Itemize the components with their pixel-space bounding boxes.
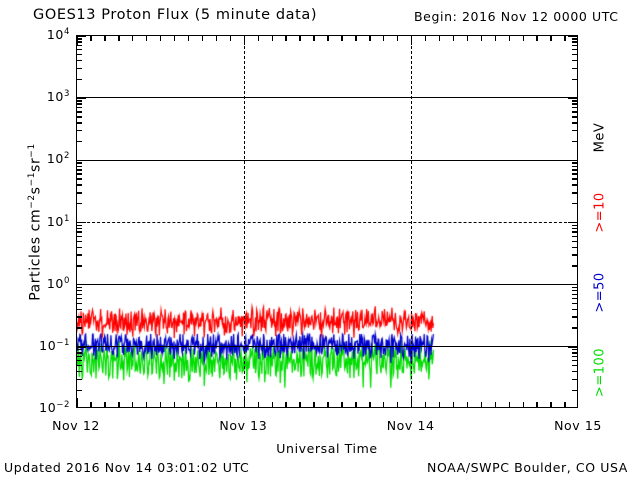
y-tick [572,303,577,304]
y-tick [77,379,82,380]
y-tick [572,309,577,310]
y-tick [572,166,577,167]
y-tick-label-1e-1: 10−1 [0,338,70,353]
x-tick-major [77,398,78,407]
y-tick [572,247,577,248]
x-tick-minor [341,36,342,41]
y-tick [572,141,577,142]
y-tick [572,298,577,299]
x-tick-minor [285,402,286,407]
y-tick [572,294,577,295]
x-tick-minor [397,36,398,41]
y-tick [572,130,577,131]
x-tick-minor [509,36,510,41]
x-tick-minor [216,402,217,407]
y-tick [77,41,82,42]
x-tick-minor [536,36,537,41]
y-tick-label-1e4: 104 [0,27,70,42]
x-tick-label-2: Nov 14 [366,418,456,433]
y-tick [77,349,82,350]
y-tick [77,287,82,288]
y-tick [77,356,82,357]
x-tick-minor [272,402,273,407]
y-tick [77,298,82,299]
y-tick [77,365,82,366]
x-tick-minor [104,402,105,407]
updated-timestamp: Updated 2016 Nov 14 03:01:02 UTC [4,460,249,475]
x-tick-minor [550,36,551,41]
x-tick-minor [467,402,468,407]
y-tick [77,122,82,123]
y-tick [77,294,82,295]
y-tick [572,360,577,361]
x-tick-minor [383,36,384,41]
y-tick [572,41,577,42]
x-tick-minor [550,402,551,407]
x-tick-minor [90,402,91,407]
y-tick-label-1e2: 102 [0,151,70,166]
y-tick [77,103,82,104]
y-tick [572,236,577,237]
page-title: GOES13 Proton Flux (5 minute data) [33,7,317,23]
y-tick [77,236,82,237]
x-tick-minor [313,402,314,407]
x-tick-minor [188,36,189,41]
y-tick [77,309,82,310]
day-separator-line [411,36,412,407]
y-tick [77,97,86,98]
y-tick [77,371,82,372]
y-tick [77,303,82,304]
x-tick-label-3: Nov 15 [533,418,623,433]
x-tick-minor [564,402,565,407]
x-tick-minor [146,402,147,407]
y-tick [77,316,82,317]
y-tick [77,222,86,223]
x-tick-minor [104,36,105,41]
y-tick [77,49,82,50]
y-tick-label-1e1: 101 [0,214,70,229]
x-tick-minor [230,402,231,407]
x-tick-minor [481,36,482,41]
y-tick [572,356,577,357]
y-tick [77,169,82,170]
y-tick [572,103,577,104]
plot-inner [77,36,577,407]
x-tick-minor [453,36,454,41]
x-tick-minor [439,36,440,41]
y-tick [572,371,577,372]
y-tick [572,68,577,69]
gridline-1e-1 [77,346,577,347]
y-tick [572,254,577,255]
y-tick [572,349,577,350]
y-tick [572,54,577,55]
legend-item-50: >=50 [593,253,608,333]
y-tick [77,352,82,353]
x-tick-minor [495,36,496,41]
x-tick-minor [453,402,454,407]
y-tick [77,390,82,391]
y-tick [77,60,82,61]
y-tick [77,231,82,232]
x-tick-minor [174,402,175,407]
y-tick [572,107,577,108]
x-tick-minor [132,402,133,407]
x-tick-minor [564,36,565,41]
y-tick [568,284,577,285]
y-tick [77,228,82,229]
day-separator-line [244,36,245,407]
y-tick [568,222,577,223]
x-tick-minor [355,36,356,41]
y-tick [572,38,577,39]
begin-time-label: Begin: 2016 Nov 12 0000 UTC [414,9,619,24]
y-tick [77,192,82,193]
y-tick [572,327,577,328]
y-tick [77,290,82,291]
x-tick-minor [118,402,119,407]
x-tick-minor [258,402,259,407]
y-tick [77,247,82,248]
y-tick [568,97,577,98]
x-tick-minor [160,36,161,41]
y-tick [77,173,82,174]
y-tick [572,184,577,185]
x-tick-label-0: Nov 12 [31,418,121,433]
y-tick [572,122,577,123]
x-tick-minor [299,36,300,41]
y-tick [572,231,577,232]
y-tick-label-1e-2: 10−2 [0,400,70,415]
y-tick [77,79,82,80]
x-tick-minor [397,402,398,407]
x-tick-minor [90,36,91,41]
y-tick [77,265,82,266]
y-tick [77,36,86,37]
y-tick [77,160,86,161]
y-tick [77,241,82,242]
y-tick [77,68,82,69]
y-tick [77,254,82,255]
y-tick-label-1e3: 103 [0,89,70,104]
y-tick [568,36,577,37]
y-tick-label-1e0: 100 [0,276,70,291]
x-tick-minor [369,402,370,407]
x-tick-minor [481,402,482,407]
y-tick [77,346,86,347]
y-tick [77,107,82,108]
y-tick [572,241,577,242]
y-tick [572,49,577,50]
y-tick [77,184,82,185]
y-tick [77,225,82,226]
x-tick-minor [327,36,328,41]
y-tick [572,203,577,204]
y-tick [572,316,577,317]
y-tick [572,365,577,366]
y-tick [572,79,577,80]
x-tick-major [77,36,78,45]
x-tick-minor [313,36,314,41]
y-tick [77,327,82,328]
y-tick [572,169,577,170]
x-tick-minor [160,402,161,407]
x-tick-minor [425,402,426,407]
x-axis-title: Universal Time [76,441,578,456]
y-tick [77,203,82,204]
y-tick [572,45,577,46]
x-tick-minor [230,36,231,41]
x-tick-minor [285,36,286,41]
x-tick-minor [146,36,147,41]
y-tick [572,111,577,112]
y-tick [77,166,82,167]
x-tick-minor [272,36,273,41]
y-tick [77,45,82,46]
y-tick [77,162,82,163]
x-tick-minor [425,36,426,41]
y-tick [77,100,82,101]
y-tick [572,116,577,117]
x-tick-minor [536,402,537,407]
legend-item-100: >=100 [593,333,608,413]
y-tick [572,178,577,179]
x-tick-minor [523,402,524,407]
y-tick [77,284,86,285]
gridline-1e2 [77,160,577,161]
x-tick-minor [216,36,217,41]
y-tick [77,38,82,39]
x-tick-minor [341,402,342,407]
proton-flux-chart: GOES13 Proton Flux (5 minute data) Begin… [0,0,640,480]
x-tick-minor [439,402,440,407]
y-tick [572,290,577,291]
y-tick [77,111,82,112]
y-tick [77,116,82,117]
y-tick [572,287,577,288]
agency-label: NOAA/SWPC Boulder, CO USA [427,460,628,475]
x-tick-minor [355,402,356,407]
plot-area [76,35,578,408]
x-tick-minor [509,402,510,407]
y-tick [77,130,82,131]
y-tick [572,173,577,174]
legend-unit-label: MeV [593,98,608,178]
y-tick [77,54,82,55]
y-tick [568,346,577,347]
x-tick-minor [383,402,384,407]
y-tick [572,162,577,163]
y-tick [572,352,577,353]
y-tick [572,379,577,380]
y-tick [77,178,82,179]
gridline-1e1 [77,222,577,223]
x-tick-minor [467,36,468,41]
x-tick-minor [327,402,328,407]
y-tick [77,360,82,361]
x-tick-minor [118,36,119,41]
x-tick-minor [202,402,203,407]
x-tick-minor [188,402,189,407]
x-tick-minor [495,402,496,407]
x-tick-minor [299,402,300,407]
legend-item-10: >=10 [593,173,608,253]
gridline-1e3 [77,97,577,98]
x-tick-minor [258,36,259,41]
x-tick-label-1: Nov 13 [198,418,288,433]
gridline-1e0 [77,284,577,285]
x-tick-minor [174,36,175,41]
y-tick [572,265,577,266]
y-tick [568,160,577,161]
y-tick [572,228,577,229]
x-tick-minor [369,36,370,41]
y-tick [572,60,577,61]
x-tick-minor [132,36,133,41]
x-tick-minor [523,36,524,41]
y-tick [572,390,577,391]
y-tick [572,225,577,226]
y-tick [77,141,82,142]
y-tick [572,192,577,193]
y-tick [572,100,577,101]
x-tick-minor [202,36,203,41]
